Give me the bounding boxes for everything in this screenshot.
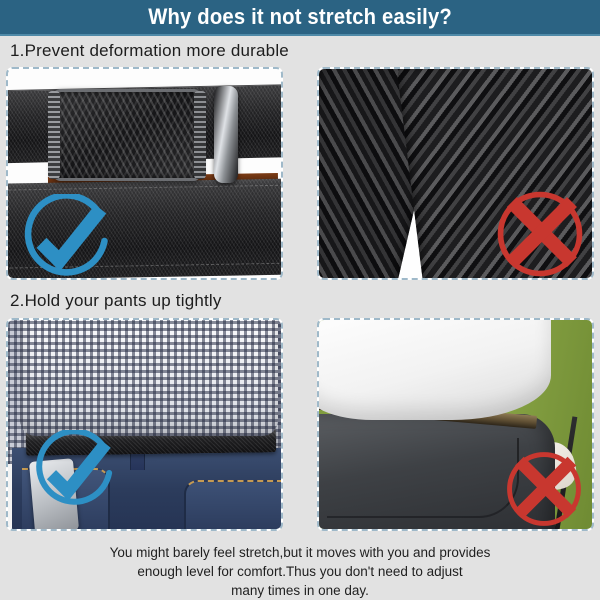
panel-pants-sagging [317,318,594,531]
buckle-release-lever [214,86,238,183]
buckle-ridge-left [48,91,60,179]
panel-image-belt-worn [8,320,281,529]
jeans-pocket-right [184,480,281,529]
page-title: Why does it not stretch easily? [148,4,452,30]
white-shirt [319,320,551,420]
panel-braided-elastic-belt [317,67,594,280]
belt-buckle [52,89,202,181]
header-bar: Why does it not stretch easily? [0,0,600,36]
infographic-page: Why does it not stretch easily? 1.Preven… [0,0,600,600]
caption-line-3: many times in one day. [0,581,600,600]
section-heading-1: 1.Prevent deformation more durable [10,41,289,61]
pants-pocket-seam [327,438,519,518]
belt-strap-lower [8,178,281,278]
belt-stitching-bottom [8,262,281,269]
panel-image-pants-sagging [319,320,592,529]
bottom-caption: You might barely feel stretch,but it mov… [0,543,600,600]
caption-line-1: You might barely feel stretch,but it mov… [0,543,600,562]
belt-stitching-top [8,184,281,191]
braided-belt-strand-right [396,69,592,278]
buckle-ridge-right [194,91,206,179]
panel-image-carbon-belt [8,69,281,278]
panel-carbon-fiber-ratchet-belt [6,67,283,280]
panel-belt-worn-correctly [6,318,283,531]
checkered-shirt [20,320,278,436]
phone-in-pocket [29,458,79,529]
panel-image-braided-belt [319,69,592,278]
caption-line-2: enough level for comfort.Thus you don't … [0,562,600,581]
section-heading-2: 2.Hold your pants up tightly [10,291,222,311]
